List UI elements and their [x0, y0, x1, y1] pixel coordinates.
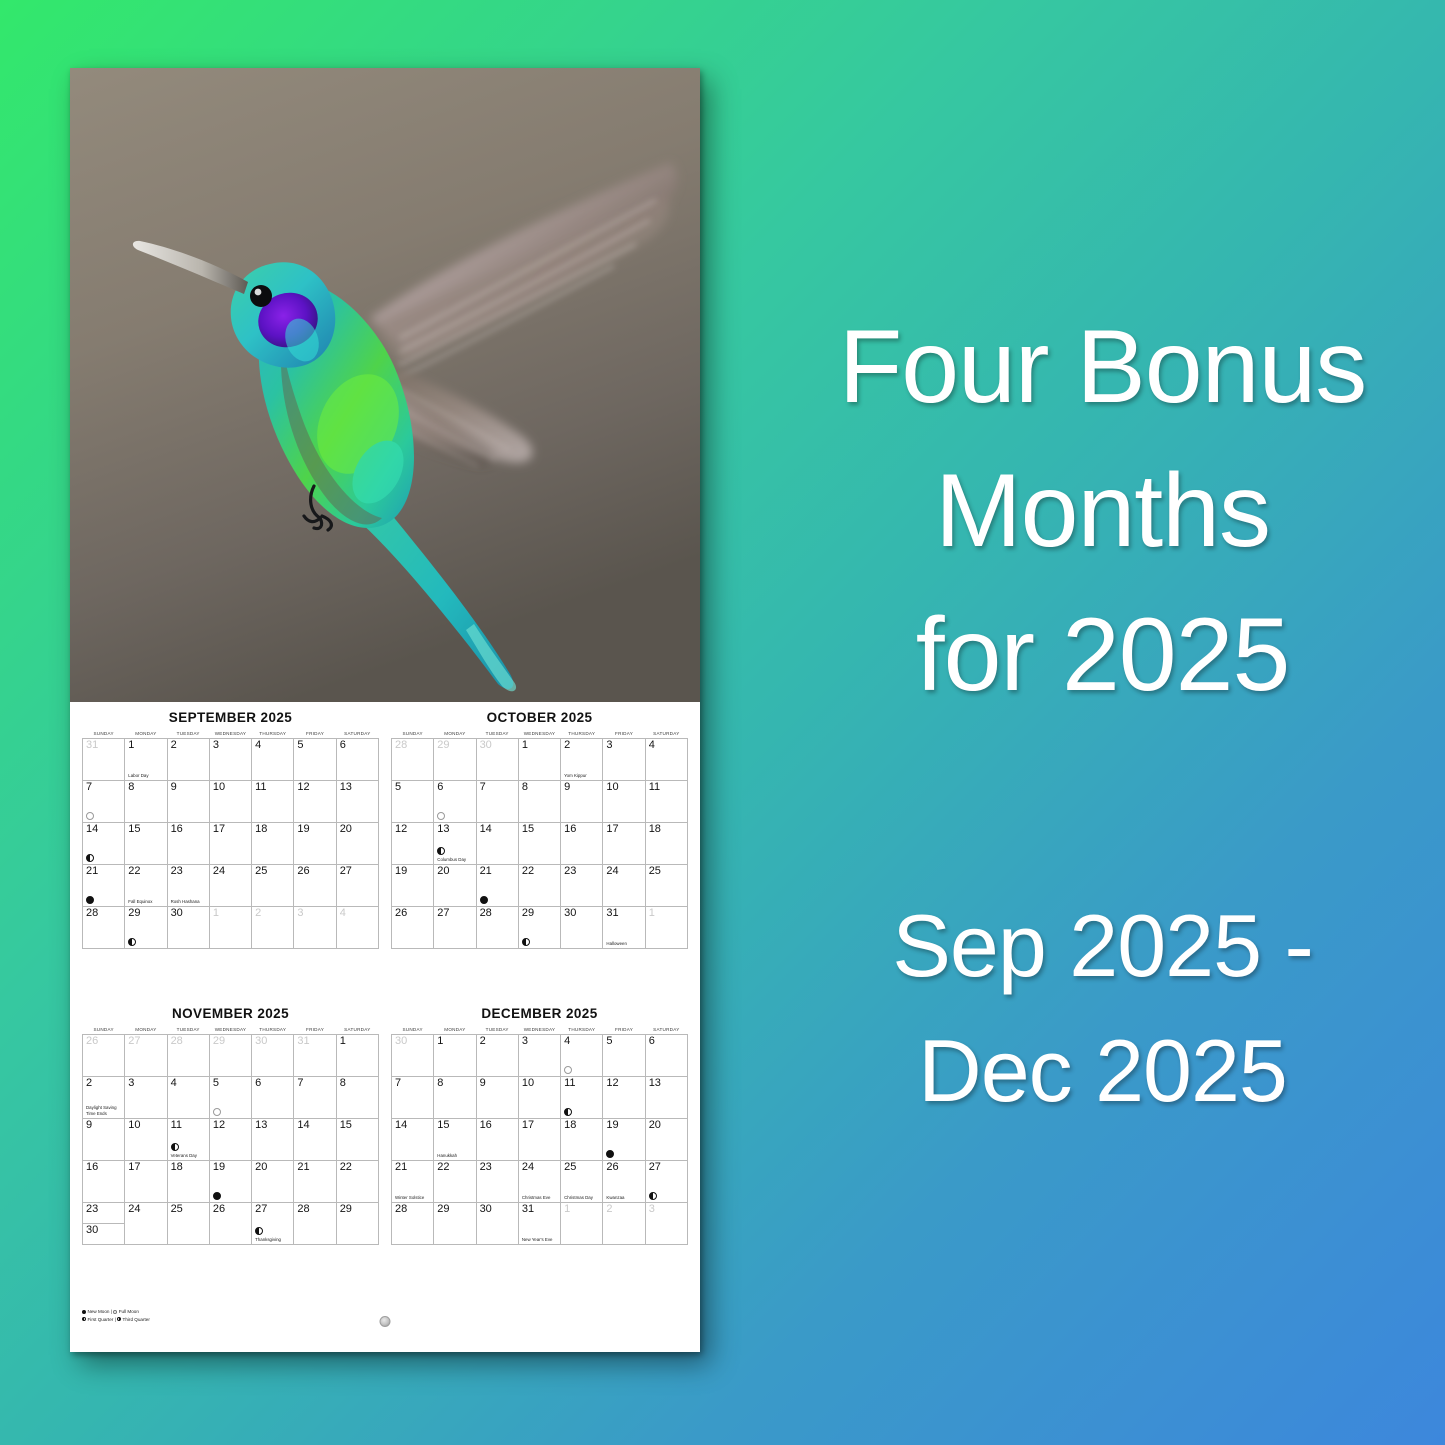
day-cell[interactable]: 27	[645, 1161, 687, 1203]
day-number: 4	[255, 740, 261, 752]
day-number: 16	[480, 1120, 492, 1132]
day-cell[interactable]: 11	[645, 781, 687, 823]
holiday-label: Yom Kippur	[564, 773, 600, 779]
day-cell[interactable]: 24	[603, 865, 645, 907]
day-number: 12	[395, 824, 407, 836]
legend-row-2: First Quarter | Third Quarter	[82, 1317, 150, 1322]
day-number: 10	[606, 782, 618, 794]
day-cell-half[interactable]: 23	[83, 1203, 124, 1224]
day-cell[interactable]: 19	[392, 865, 434, 907]
week-row: 14151617181920	[83, 823, 379, 865]
month-block: OCTOBER 2025SUNDAYMONDAYTUESDAYWEDNESDAY…	[391, 710, 688, 1006]
weekday-header: SATURDAY	[645, 731, 687, 739]
holiday-label: Winter Solstice	[395, 1195, 431, 1201]
day-cell[interactable]: 27	[336, 865, 378, 907]
third-moon-icon	[86, 854, 94, 862]
week-row: 21Winter Solstice222324Christmas Eve25Ch…	[392, 1161, 688, 1203]
weekday-header: SUNDAY	[83, 731, 125, 739]
day-cell[interactable]: 8	[518, 781, 560, 823]
day-number: 31	[522, 1204, 534, 1216]
day-cell[interactable]: 1Labor Day	[125, 739, 167, 781]
day-cell[interactable]: 12	[392, 823, 434, 865]
day-cell[interactable]: 14	[392, 1119, 434, 1161]
day-cell[interactable]: 3	[209, 739, 251, 781]
day-cell[interactable]: 20	[252, 1161, 294, 1203]
day-cell[interactable]: 11	[252, 781, 294, 823]
weekday-header: TUESDAY	[167, 1027, 209, 1035]
day-cell[interactable]: 12	[294, 781, 336, 823]
day-cell[interactable]: 6	[252, 1077, 294, 1119]
day-cell[interactable]: 2	[476, 1035, 518, 1077]
day-cell[interactable]: 2Daylight Saving Time Ends	[83, 1077, 125, 1119]
day-cell[interactable]: 9	[561, 781, 603, 823]
day-cell[interactable]: 9	[476, 1077, 518, 1119]
promo-headline-line-2: Months	[760, 452, 1445, 571]
day-number: 15	[522, 824, 534, 836]
day-cell[interactable]: 16	[83, 1161, 125, 1203]
day-cell[interactable]: 4	[645, 739, 687, 781]
day-cell[interactable]: 5	[294, 739, 336, 781]
day-cell[interactable]: 5	[392, 781, 434, 823]
month-title: OCTOBER 2025	[391, 710, 688, 725]
week-row: 91011Veterans Day12131415	[83, 1119, 379, 1161]
holiday-label: Christmas Day	[564, 1195, 600, 1201]
day-number: 8	[128, 782, 134, 794]
day-cell[interactable]: 15	[518, 823, 560, 865]
week-row: 262728293031Halloween1	[392, 907, 688, 949]
day-cell[interactable]: 7	[476, 781, 518, 823]
day-cell[interactable]: 29	[518, 907, 560, 949]
day-cell[interactable]: 28	[392, 739, 434, 781]
day-cell[interactable]: 22	[518, 865, 560, 907]
day-number: 30	[86, 1225, 98, 1237]
day-number: 9	[564, 782, 570, 794]
legend-full-moon-label: Full Moon	[119, 1309, 139, 1314]
day-cell[interactable]: 30	[476, 739, 518, 781]
day-number: 28	[395, 1204, 407, 1216]
legend-separator-2: |	[115, 1317, 116, 1322]
day-cell[interactable]: 24Christmas Eve	[518, 1161, 560, 1203]
day-number: 30	[255, 1036, 267, 1048]
weekday-header: SATURDAY	[336, 731, 378, 739]
day-cell[interactable]: 31New Year's Eve	[518, 1203, 560, 1245]
day-cell[interactable]: 17	[125, 1161, 167, 1203]
day-cell[interactable]: 25	[645, 865, 687, 907]
day-cell[interactable]: 29	[336, 1203, 378, 1245]
full-moon-icon	[213, 1108, 221, 1116]
day-number: 17	[606, 824, 618, 836]
day-cell[interactable]: 5	[603, 1035, 645, 1077]
day-cell[interactable]: 26	[392, 907, 434, 949]
day-cell[interactable]: 20	[336, 823, 378, 865]
day-cell[interactable]: 3	[518, 1035, 560, 1077]
day-cell[interactable]: 18	[561, 1119, 603, 1161]
holiday-label: Halloween	[606, 941, 642, 947]
weekday-header: THURSDAY	[561, 731, 603, 739]
day-cell[interactable]: 11	[561, 1077, 603, 1119]
day-number: 18	[564, 1120, 576, 1132]
day-number: 9	[86, 1120, 92, 1132]
week-row: 2Daylight Saving Time Ends345678	[83, 1077, 379, 1119]
day-number: 2	[86, 1078, 92, 1090]
day-number: 13	[437, 824, 449, 836]
day-cell[interactable]: 28	[167, 1035, 209, 1077]
week-row: 2829301234	[83, 907, 379, 949]
day-cell[interactable]: 17	[518, 1119, 560, 1161]
day-cell[interactable]: 16	[561, 823, 603, 865]
day-number: 24	[606, 866, 618, 878]
day-number: 1	[213, 908, 219, 920]
month-block: SEPTEMBER 2025SUNDAYMONDAYTUESDAYWEDNESD…	[82, 710, 379, 1006]
day-cell[interactable]: 1	[561, 1203, 603, 1245]
day-cell[interactable]: 20	[434, 865, 476, 907]
day-cell[interactable]: 8	[434, 1077, 476, 1119]
day-cell[interactable]: 30	[167, 907, 209, 949]
hummingbird-photo	[70, 68, 700, 702]
day-cell[interactable]: 29	[434, 1203, 476, 1245]
day-number: 28	[86, 908, 98, 920]
day-cell[interactable]: 28	[294, 1203, 336, 1245]
day-number: 24	[522, 1162, 534, 1174]
day-cell[interactable]: 22Fall Equinox	[125, 865, 167, 907]
week-row: 28293031New Year's Eve123	[392, 1203, 688, 1245]
day-cell[interactable]: 1	[645, 907, 687, 949]
month-block: DECEMBER 2025SUNDAYMONDAYTUESDAYWEDNESDA…	[391, 1006, 688, 1302]
day-number: 21	[86, 866, 98, 878]
weekday-header-row: SUNDAYMONDAYTUESDAYWEDNESDAYTHURSDAYFRID…	[392, 731, 688, 739]
day-number: 16	[171, 824, 183, 836]
day-cell[interactable]: 8	[125, 781, 167, 823]
day-cell[interactable]: 27Thanksgiving	[252, 1203, 294, 1245]
day-number: 22	[437, 1162, 449, 1174]
day-cell[interactable]: 15	[125, 823, 167, 865]
day-cell[interactable]: 28	[392, 1203, 434, 1245]
day-cell[interactable]: 2	[252, 907, 294, 949]
day-cell[interactable]: 6	[434, 781, 476, 823]
day-cell[interactable]: 24	[125, 1203, 167, 1245]
day-cell[interactable]: 3	[603, 739, 645, 781]
day-cell[interactable]: 6	[336, 739, 378, 781]
day-number: 21	[480, 866, 492, 878]
new-moon-icon	[82, 1310, 86, 1314]
holiday-label: Daylight Saving Time Ends	[86, 1105, 122, 1116]
day-cell[interactable]: 4	[252, 739, 294, 781]
day-cell[interactable]: 30	[392, 1035, 434, 1077]
day-cell[interactable]: 4	[336, 907, 378, 949]
weekday-header: SATURDAY	[645, 1027, 687, 1035]
weekday-header: WEDNESDAY	[518, 1027, 560, 1035]
day-number: 31	[606, 908, 618, 920]
day-cell[interactable]: 22	[434, 1161, 476, 1203]
day-cell[interactable]: 23	[476, 1161, 518, 1203]
promo-range-line-2: Dec 2025	[760, 1020, 1445, 1122]
day-number: 16	[564, 824, 576, 836]
day-cell[interactable]: 12	[603, 1077, 645, 1119]
day-cell[interactable]: 17	[603, 823, 645, 865]
day-number: 18	[255, 824, 267, 836]
day-cell[interactable]: 25Christmas Day	[561, 1161, 603, 1203]
day-cell[interactable]: 18	[167, 1161, 209, 1203]
third-moon-icon	[437, 847, 445, 855]
day-cell[interactable]: 21	[83, 865, 125, 907]
day-cell[interactable]: 13	[645, 1077, 687, 1119]
weekday-header-row: SUNDAYMONDAYTUESDAYWEDNESDAYTHURSDAYFRID…	[83, 1027, 379, 1035]
holiday-label: Kwanzaa	[606, 1195, 642, 1201]
day-number: 4	[171, 1078, 177, 1090]
day-cell[interactable]: 2Yom Kippur	[561, 739, 603, 781]
day-cell[interactable]: 20	[645, 1119, 687, 1161]
day-cell[interactable]: 1	[336, 1035, 378, 1077]
day-cell[interactable]: 6	[645, 1035, 687, 1077]
day-number: 15	[437, 1120, 449, 1132]
third-moon-icon	[564, 1108, 572, 1116]
day-cell[interactable]: 4	[561, 1035, 603, 1077]
day-number: 2	[606, 1204, 612, 1216]
binding-hole-icon	[380, 1316, 391, 1327]
day-number: 27	[437, 908, 449, 920]
day-number: 25	[171, 1204, 183, 1216]
promo-headline-line-1: Four Bonus	[760, 308, 1445, 427]
third-moon-icon	[171, 1143, 179, 1151]
holiday-label: Hanukkah	[437, 1153, 473, 1159]
day-number: 23	[564, 866, 576, 878]
day-cell[interactable]: 9	[167, 781, 209, 823]
day-cell[interactable]: 16	[476, 1119, 518, 1161]
weekday-header: SATURDAY	[336, 1027, 378, 1035]
day-cell[interactable]: 22	[336, 1161, 378, 1203]
day-number: 15	[340, 1120, 352, 1132]
day-cell[interactable]: 29	[434, 739, 476, 781]
weekday-header: MONDAY	[434, 1027, 476, 1035]
day-cell[interactable]: 1	[209, 907, 251, 949]
legend-first-quarter-label: First Quarter	[88, 1317, 114, 1322]
day-number: 2	[564, 740, 570, 752]
day-cell[interactable]: 21Winter Solstice	[392, 1161, 434, 1203]
day-number: 4	[564, 1036, 570, 1048]
day-number: 1	[128, 740, 134, 752]
day-number: 20	[255, 1162, 267, 1174]
day-cell[interactable]: 15Hanukkah	[434, 1119, 476, 1161]
day-cell[interactable]: 13	[252, 1119, 294, 1161]
day-cell[interactable]: 10	[125, 1119, 167, 1161]
day-number: 11	[255, 782, 266, 794]
day-cell[interactable]: 7	[294, 1077, 336, 1119]
day-number: 23	[86, 1204, 98, 1216]
day-cell[interactable]: 31	[294, 1035, 336, 1077]
weekday-header: FRIDAY	[294, 1027, 336, 1035]
holiday-label: Veterans Day	[171, 1153, 207, 1159]
day-number: 30	[480, 1204, 492, 1216]
day-cell[interactable]: 30	[561, 907, 603, 949]
legend-new-moon-label: New Moon	[88, 1309, 110, 1314]
day-cell[interactable]: 10	[518, 1077, 560, 1119]
day-number: 8	[522, 782, 528, 794]
full-moon-icon	[564, 1066, 572, 1074]
day-number: 25	[649, 866, 661, 878]
weekday-header: MONDAY	[125, 731, 167, 739]
weekday-header: THURSDAY	[561, 1027, 603, 1035]
full-moon-icon	[113, 1310, 117, 1314]
day-cell[interactable]: 27	[125, 1035, 167, 1077]
day-number: 7	[395, 1078, 401, 1090]
day-cell[interactable]: 29	[125, 907, 167, 949]
day-cell[interactable]: 31Halloween	[603, 907, 645, 949]
day-number: 30	[564, 908, 576, 920]
month-table: SUNDAYMONDAYTUESDAYWEDNESDAYTHURSDAYFRID…	[391, 731, 688, 949]
day-number: 11	[171, 1120, 182, 1132]
day-number: 7	[480, 782, 486, 794]
day-cell[interactable]: 11Veterans Day	[167, 1119, 209, 1161]
holiday-label: Christmas Eve	[522, 1195, 558, 1201]
day-number: 19	[606, 1120, 618, 1132]
day-cell[interactable]: 2	[603, 1203, 645, 1245]
month-table: SUNDAYMONDAYTUESDAYWEDNESDAYTHURSDAYFRID…	[82, 731, 379, 949]
day-cell[interactable]: 25	[167, 1203, 209, 1245]
day-number: 25	[564, 1162, 576, 1174]
day-cell[interactable]: 8	[336, 1077, 378, 1119]
day-number: 13	[649, 1078, 661, 1090]
day-number: 28	[171, 1036, 183, 1048]
weekday-header: MONDAY	[125, 1027, 167, 1035]
week-row: 78910111213	[392, 1077, 688, 1119]
day-cell[interactable]: 14	[294, 1119, 336, 1161]
legend-separator-1: |	[111, 1309, 112, 1314]
new-moon-icon	[480, 896, 488, 904]
day-number: 23	[480, 1162, 492, 1174]
day-number: 30	[395, 1036, 407, 1048]
week-row: 28293012Yom Kippur34	[392, 739, 688, 781]
full-moon-icon	[437, 812, 445, 820]
day-number: 26	[606, 1162, 618, 1174]
day-cell[interactable]: 24	[209, 865, 251, 907]
day-cell[interactable]: 18	[252, 823, 294, 865]
day-number: 4	[340, 908, 346, 920]
day-cell[interactable]: 15	[336, 1119, 378, 1161]
day-cell[interactable]: 5	[209, 1077, 251, 1119]
day-cell[interactable]: 30	[252, 1035, 294, 1077]
day-cell[interactable]: 1	[434, 1035, 476, 1077]
day-cell-half[interactable]: 30	[83, 1224, 124, 1245]
day-cell[interactable]: 4	[167, 1077, 209, 1119]
week-row: 2627282930311	[83, 1035, 379, 1077]
weekday-header: FRIDAY	[603, 1027, 645, 1035]
day-cell[interactable]: 14	[83, 823, 125, 865]
day-cell[interactable]: 26	[209, 1203, 251, 1245]
day-number: 17	[213, 824, 225, 836]
day-number: 1	[649, 908, 655, 920]
day-number: 30	[480, 740, 492, 752]
day-number: 1	[437, 1036, 443, 1048]
day-number: 29	[128, 908, 140, 920]
day-cell[interactable]: 19	[603, 1119, 645, 1161]
day-cell[interactable]: 19	[294, 823, 336, 865]
weekday-header: THURSDAY	[252, 1027, 294, 1035]
day-cell[interactable]: 13Columbus Day	[434, 823, 476, 865]
day-cell[interactable]: 27	[434, 907, 476, 949]
day-number: 7	[86, 782, 92, 794]
day-number: 12	[297, 782, 309, 794]
day-cell[interactable]: 21	[476, 865, 518, 907]
day-cell[interactable]: 14	[476, 823, 518, 865]
day-cell[interactable]: 1	[518, 739, 560, 781]
legend-row-1: New Moon | Full Moon	[82, 1309, 139, 1314]
day-cell[interactable]: 3	[645, 1203, 687, 1245]
day-cell[interactable]: 2	[167, 739, 209, 781]
day-number: 26	[86, 1036, 98, 1048]
day-cell[interactable]: 2330	[83, 1203, 125, 1245]
day-cell[interactable]: 10	[603, 781, 645, 823]
day-number: 18	[171, 1162, 183, 1174]
week-row: 16171819202122	[83, 1161, 379, 1203]
first-quarter-icon	[82, 1317, 86, 1321]
day-number: 24	[213, 866, 225, 878]
week-row: 30123456	[392, 1035, 688, 1077]
day-number: 3	[297, 908, 303, 920]
day-cell[interactable]: 25	[252, 865, 294, 907]
day-cell[interactable]: 13	[336, 781, 378, 823]
day-cell[interactable]: 9	[83, 1119, 125, 1161]
day-number: 27	[128, 1036, 140, 1048]
day-cell[interactable]: 3	[294, 907, 336, 949]
day-cell[interactable]: 7	[392, 1077, 434, 1119]
day-number: 3	[128, 1078, 134, 1090]
day-number: 2	[480, 1036, 486, 1048]
day-number: 29	[522, 908, 534, 920]
day-cell[interactable]: 7	[83, 781, 125, 823]
day-number: 27	[255, 1204, 267, 1216]
day-cell[interactable]: 16	[167, 823, 209, 865]
day-cell[interactable]: 18	[645, 823, 687, 865]
weekday-header: WEDNESDAY	[518, 731, 560, 739]
hummingbird-illustration	[70, 68, 700, 702]
day-number: 13	[340, 782, 352, 794]
day-cell[interactable]: 26	[83, 1035, 125, 1077]
day-cell[interactable]: 23	[561, 865, 603, 907]
day-cell[interactable]: 10	[209, 781, 251, 823]
day-number: 8	[437, 1078, 443, 1090]
day-cell[interactable]: 29	[209, 1035, 251, 1077]
month-table: SUNDAYMONDAYTUESDAYWEDNESDAYTHURSDAYFRID…	[391, 1027, 688, 1245]
day-number: 29	[437, 1204, 449, 1216]
new-moon-icon	[606, 1150, 614, 1158]
week-row: 311Labor Day23456	[83, 739, 379, 781]
day-cell[interactable]: 30	[476, 1203, 518, 1245]
day-number: 10	[522, 1078, 534, 1090]
moon-phase-legend: New Moon | Full Moon First Quarter | Thi…	[82, 1308, 150, 1323]
month-table: SUNDAYMONDAYTUESDAYWEDNESDAYTHURSDAYFRID…	[82, 1027, 379, 1245]
day-number: 9	[171, 782, 177, 794]
day-number: 2	[255, 908, 261, 920]
day-cell[interactable]: 26Kwanzaa	[603, 1161, 645, 1203]
day-number: 17	[128, 1162, 140, 1174]
promo-range-line-1: Sep 2025 -	[760, 895, 1445, 997]
day-cell[interactable]: 3	[125, 1077, 167, 1119]
day-number: 21	[395, 1162, 407, 1174]
day-cell[interactable]: 19	[209, 1161, 251, 1203]
day-cell[interactable]: 28	[83, 907, 125, 949]
month-title: SEPTEMBER 2025	[82, 710, 379, 725]
day-cell[interactable]: 17	[209, 823, 251, 865]
day-cell[interactable]: 31	[83, 739, 125, 781]
day-cell[interactable]: 28	[476, 907, 518, 949]
weekday-header: FRIDAY	[294, 731, 336, 739]
full-moon-icon	[86, 812, 94, 820]
day-number: 31	[297, 1036, 309, 1048]
day-cell[interactable]: 21	[294, 1161, 336, 1203]
day-cell[interactable]: 26	[294, 865, 336, 907]
day-cell[interactable]: 23Rosh Hashana	[167, 865, 209, 907]
day-cell[interactable]: 12	[209, 1119, 251, 1161]
